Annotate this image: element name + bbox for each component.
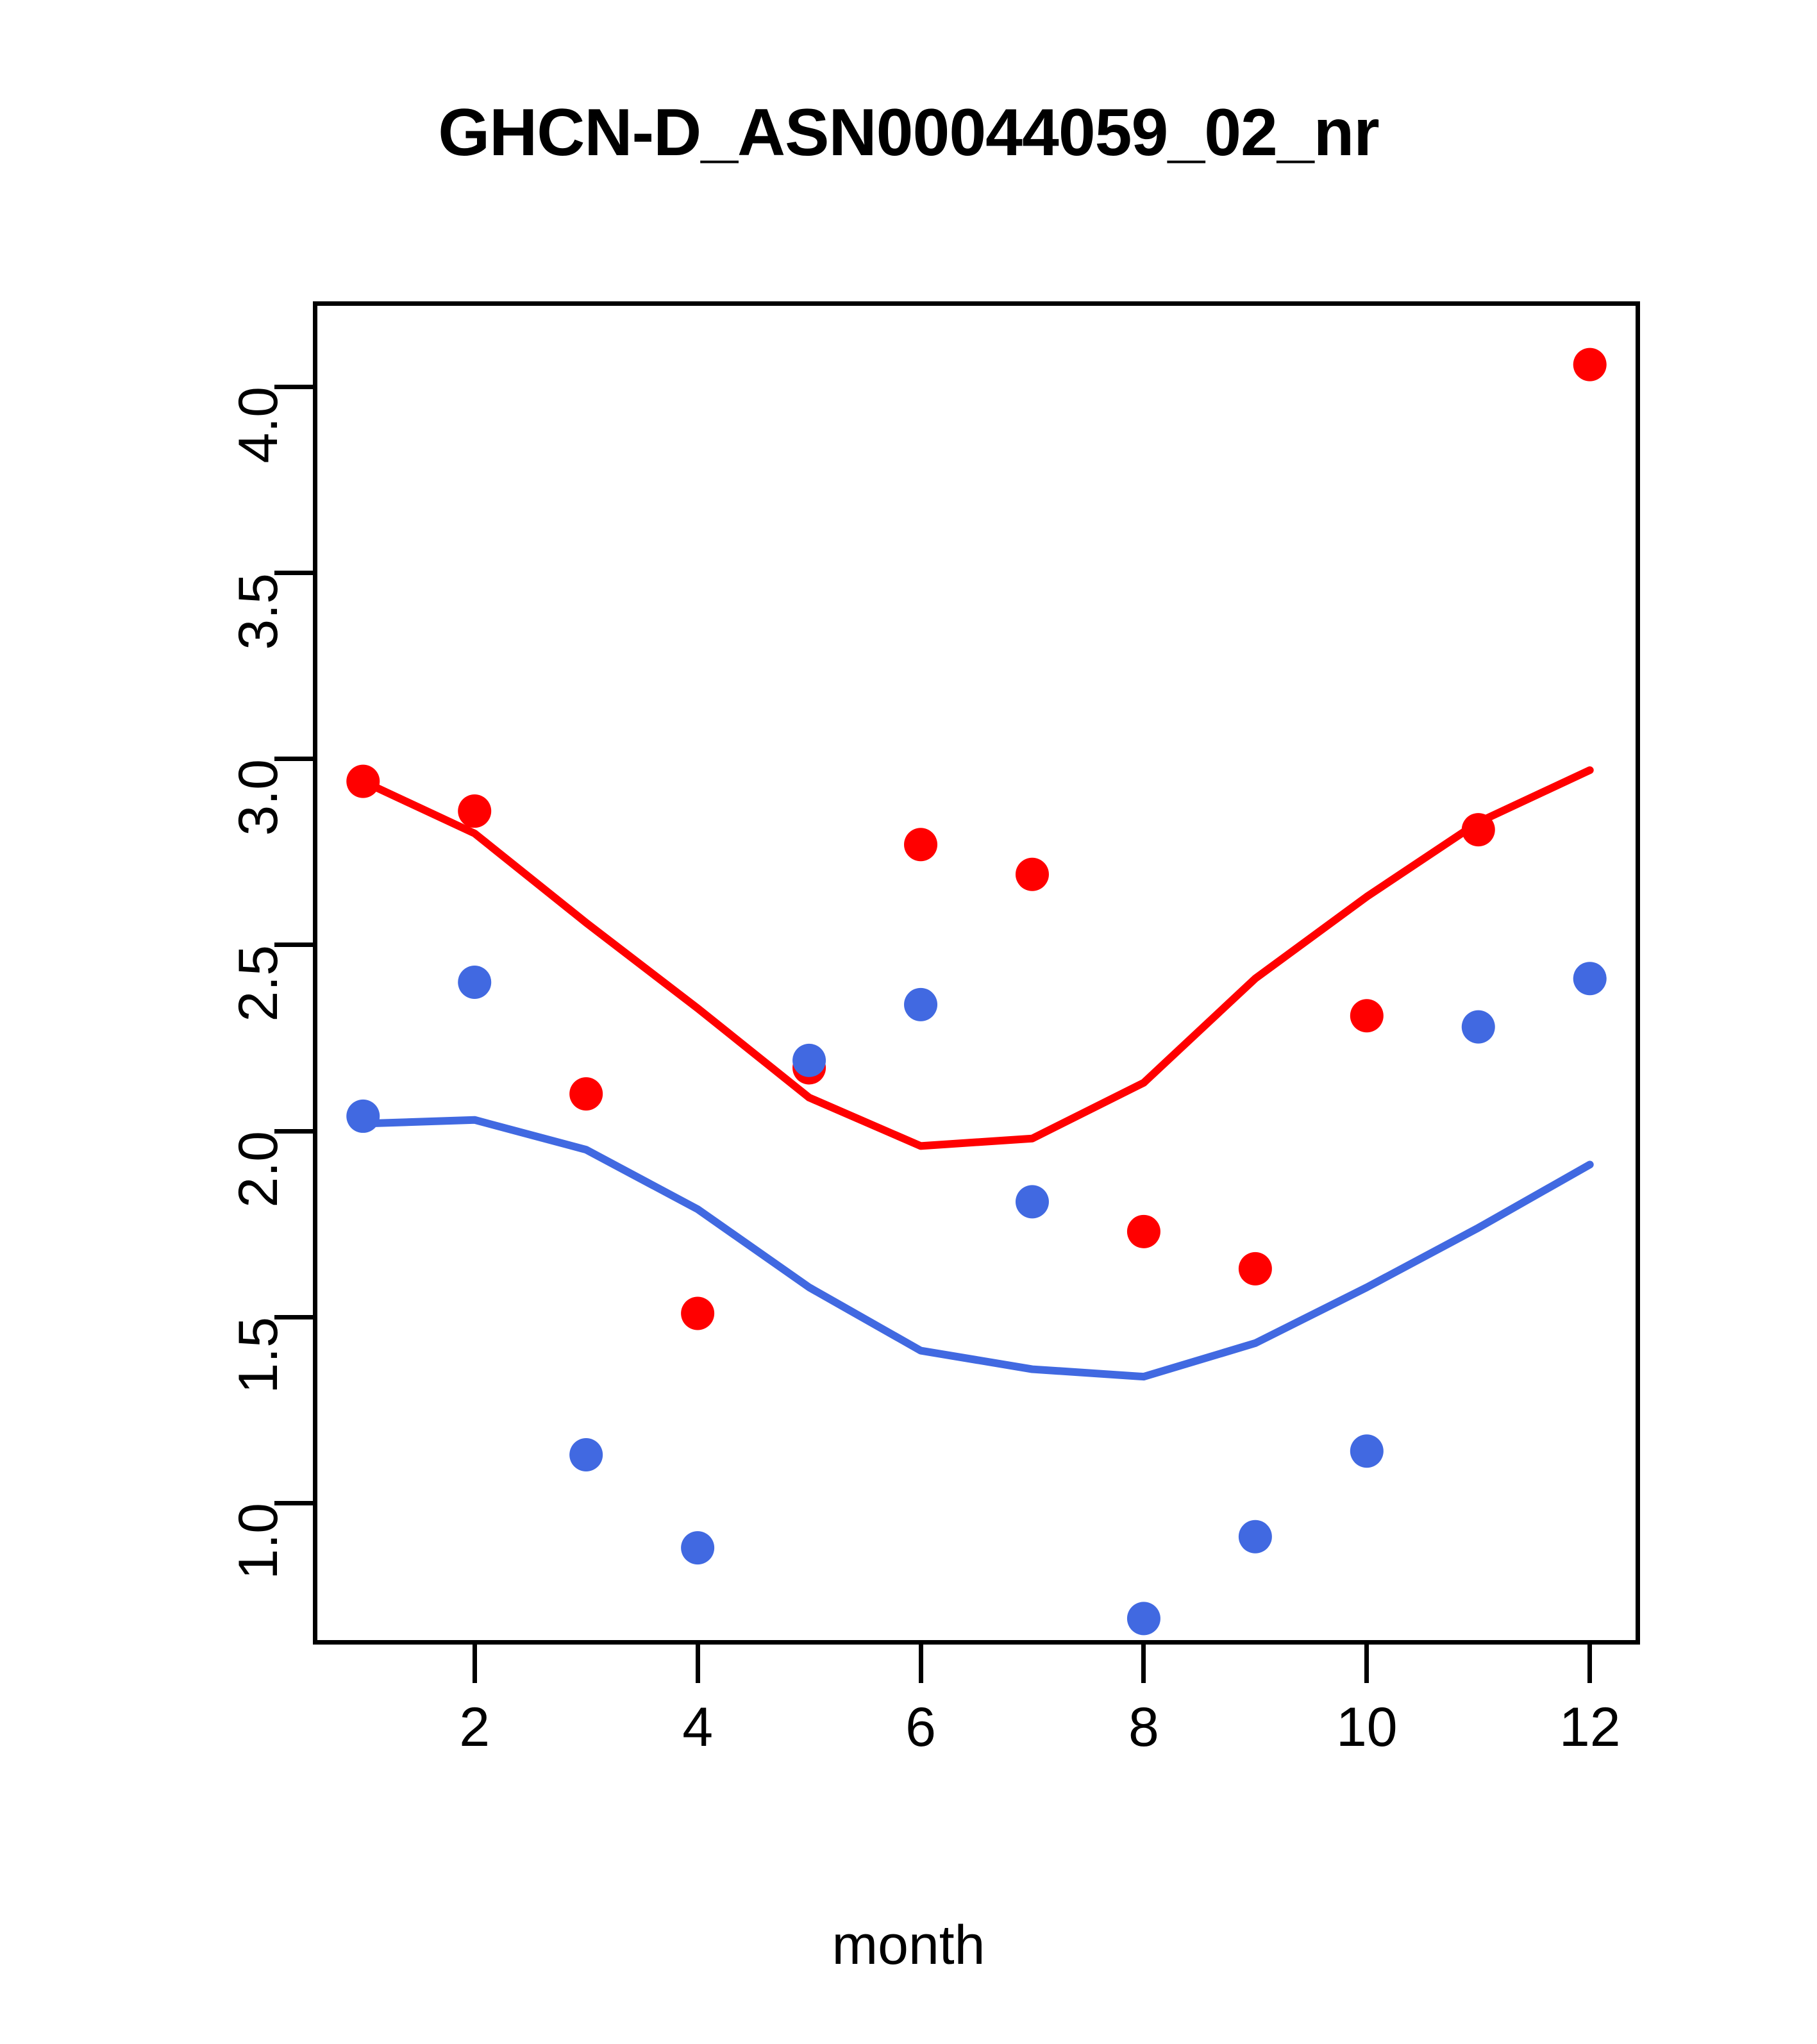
x-tick-mark [696, 1645, 700, 1683]
data-point [1127, 1602, 1160, 1635]
data-point [1127, 1215, 1160, 1248]
data-point [1350, 1434, 1384, 1468]
data-point [792, 1044, 826, 1077]
data-point [458, 794, 491, 828]
data-point [1573, 348, 1607, 381]
data-point [1239, 1252, 1272, 1286]
data-point [681, 1297, 714, 1330]
data-point [681, 1531, 714, 1564]
x-tick-mark [1587, 1645, 1592, 1683]
y-tick-label: 2.0 [228, 1131, 291, 1208]
x-tick-label: 10 [1336, 1696, 1398, 1759]
data-point [569, 1077, 603, 1110]
x-tick-mark [473, 1645, 477, 1683]
data-point [346, 765, 380, 798]
x-tick-mark [919, 1645, 923, 1683]
x-tick-label: 12 [1559, 1696, 1621, 1759]
data-point [1016, 858, 1049, 891]
y-tick-label: 2.5 [228, 945, 291, 1022]
x-tick-mark [1141, 1645, 1146, 1683]
y-tick-label: 4.0 [228, 387, 291, 464]
x-tick-label: 6 [905, 1696, 936, 1759]
x-axis: 24681012 [313, 1645, 1640, 1856]
data-point [1350, 999, 1384, 1032]
y-tick-label: 1.5 [228, 1317, 291, 1394]
chart-canvas: GHCN-D_ASN00044059_02_nr 1.01.52.02.53.0… [0, 0, 1817, 2044]
data-point [458, 966, 491, 999]
x-axis-title: month [0, 1914, 1817, 1977]
plot-graphics [313, 301, 1640, 1645]
data-point [904, 988, 937, 1021]
x-tick-label: 2 [459, 1696, 490, 1759]
data-point [1573, 962, 1607, 995]
x-tick-label: 8 [1128, 1696, 1159, 1759]
x-tick-mark [1364, 1645, 1369, 1683]
y-axis: 1.01.52.02.53.03.54.0 [263, 301, 314, 1645]
y-tick-label: 3.5 [228, 573, 291, 650]
data-point [1239, 1520, 1272, 1554]
data-point [1462, 1010, 1495, 1044]
data-point [346, 1100, 380, 1133]
data-point [904, 828, 937, 861]
series-line-blue-curve [363, 1120, 1589, 1377]
y-tick-label: 1.0 [228, 1503, 291, 1580]
series-line-red-curve [363, 770, 1589, 1146]
data-point [1462, 813, 1495, 846]
data-point [1016, 1185, 1049, 1218]
chart-title: GHCN-D_ASN00044059_02_nr [0, 95, 1817, 171]
y-tick-label: 3.0 [228, 759, 291, 836]
x-tick-label: 4 [682, 1696, 713, 1759]
data-point [569, 1438, 603, 1471]
